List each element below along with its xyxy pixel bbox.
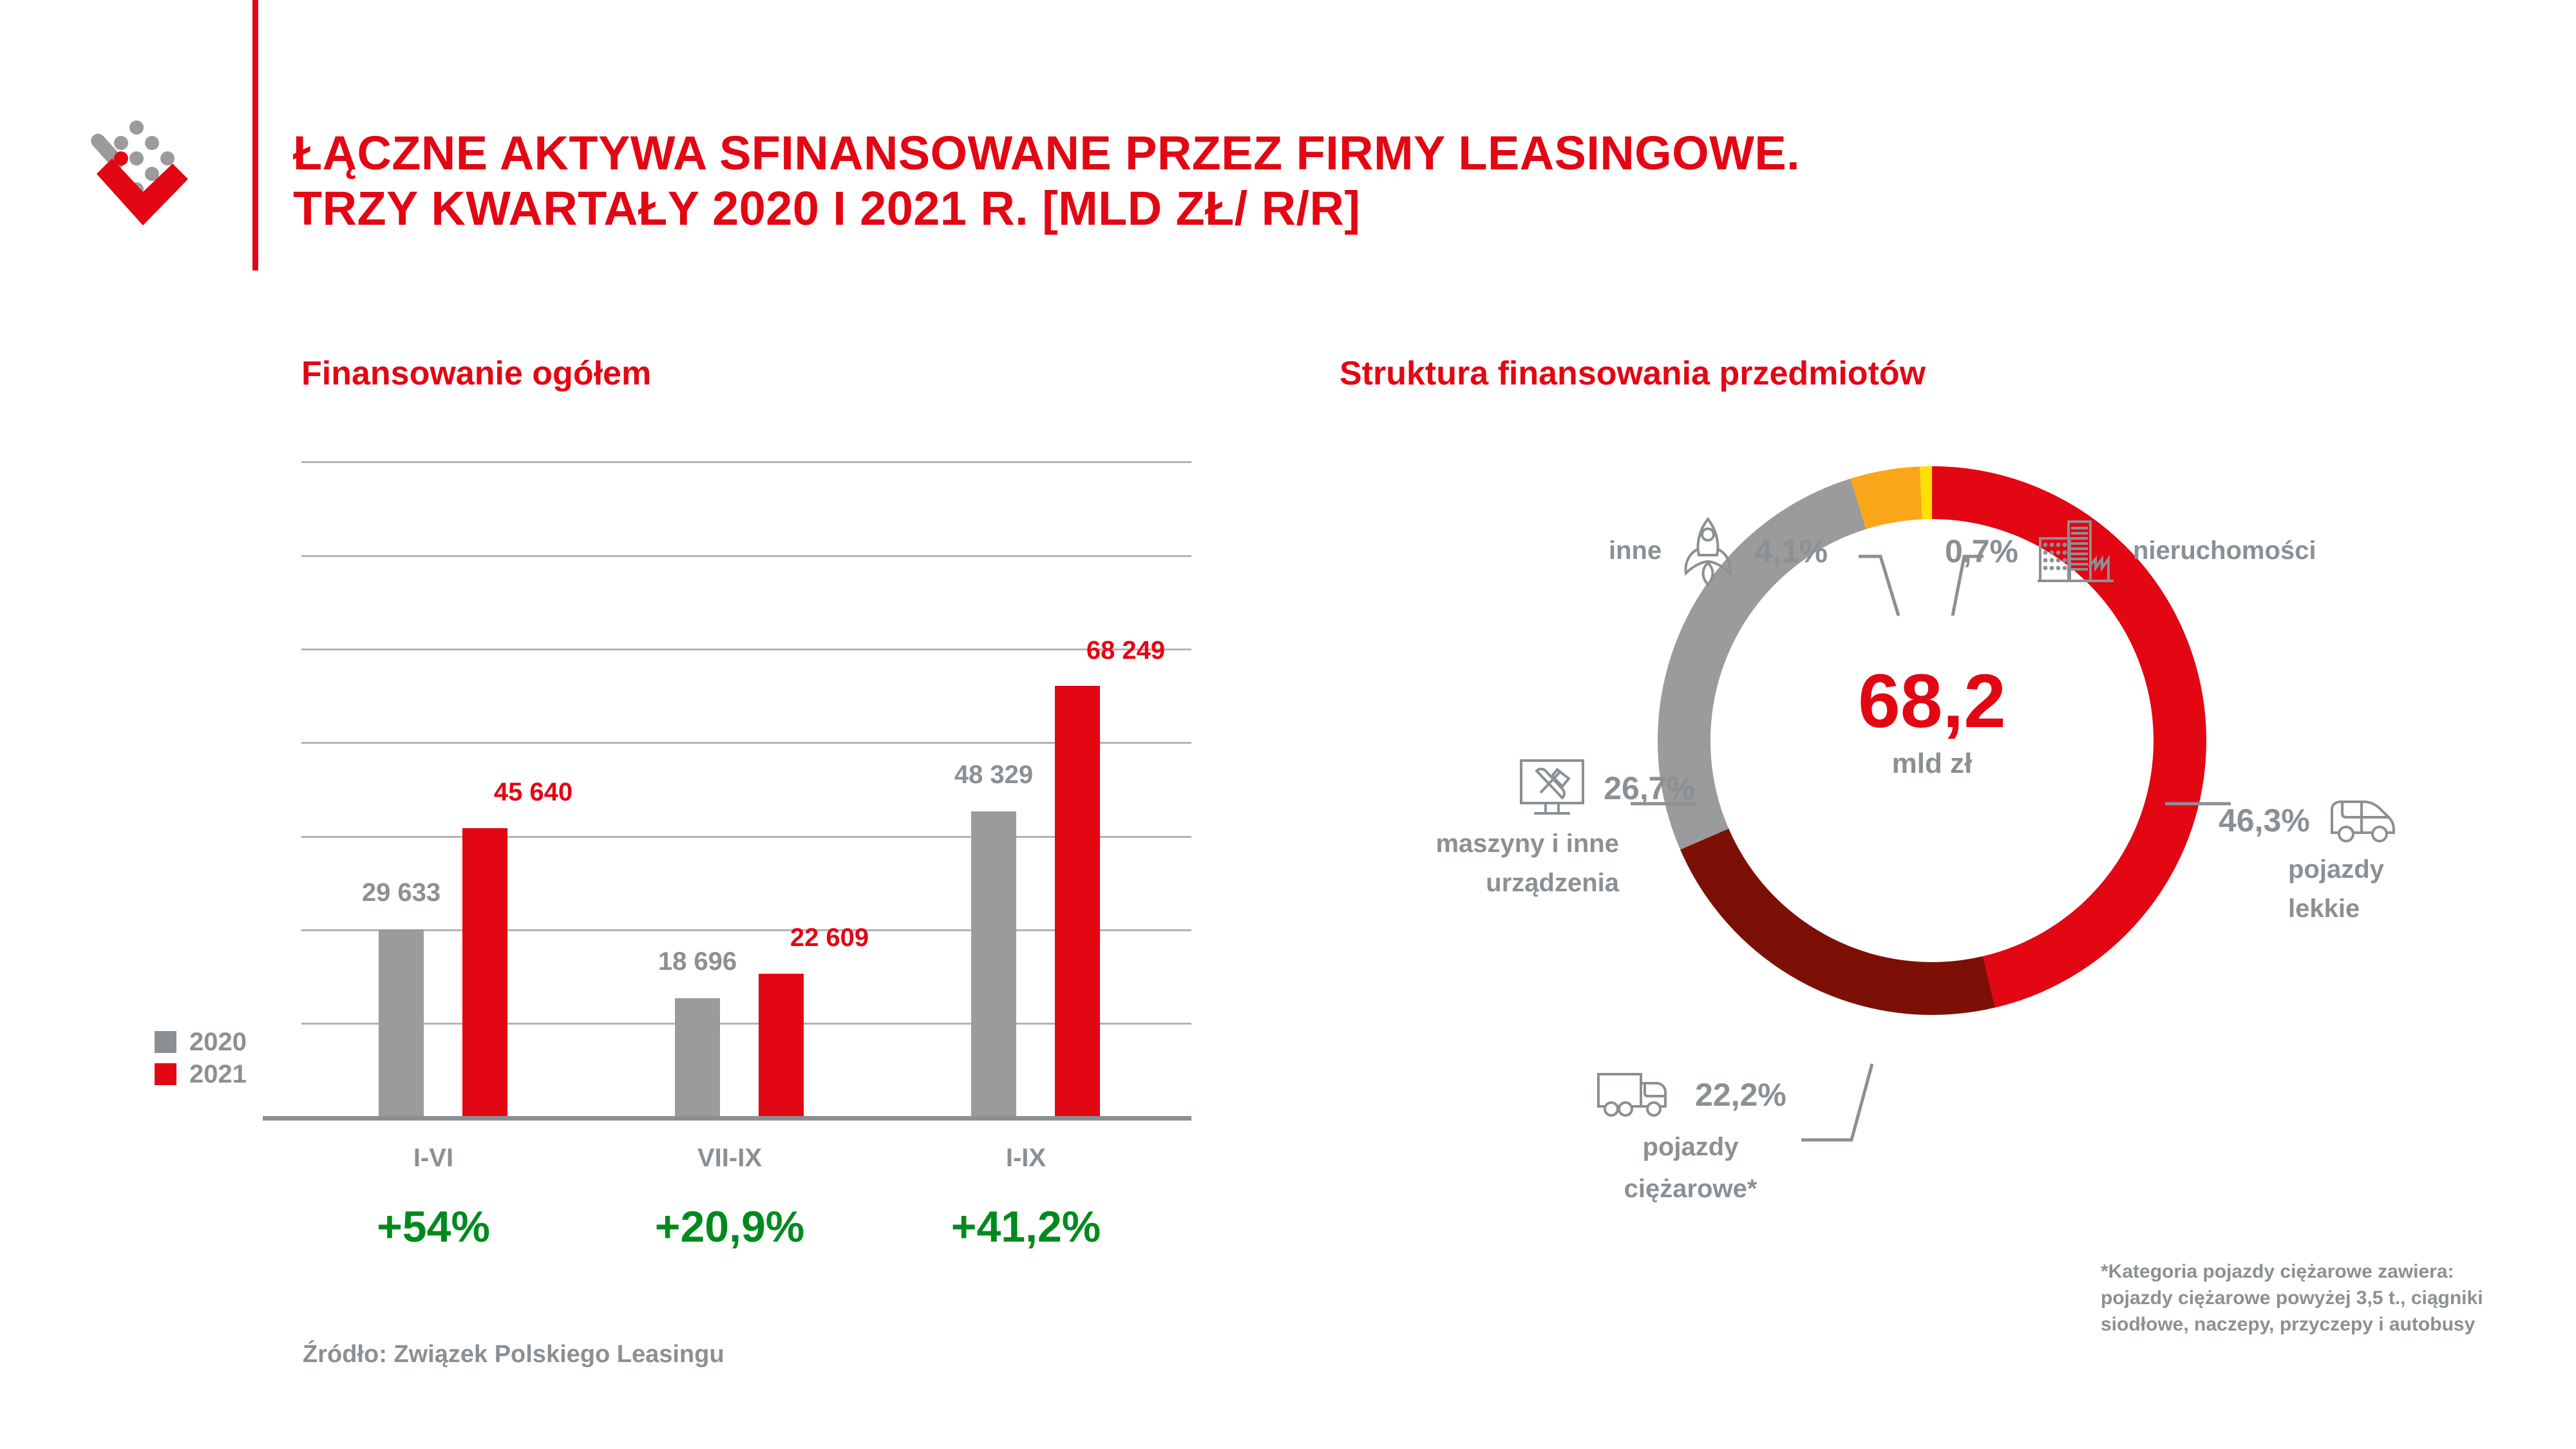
zpl-logo-icon [90, 97, 219, 225]
x-axis-label-i-vi: I-VI [337, 1144, 530, 1173]
donut-callout-pojazdy-ciezarowe: 22,2% pojazdy ciężarowe* [1517, 1069, 1864, 1204]
legend-item-2020[interactable]: 2020 [155, 1029, 296, 1055]
donut-callout-pojazdy-ciezarowe-label-1: pojazdy [1517, 1132, 1864, 1162]
legend-item-2021[interactable]: 2021 [155, 1061, 296, 1087]
bar-chart-title: Finansowanie ogółem [301, 354, 651, 393]
donut-callout-pojazdy-lekkie-label-1: pojazdy [2288, 855, 2398, 885]
legend-swatch-2020 [155, 1031, 176, 1053]
source-note: Źródło: Związek Polskiego Leasingu [303, 1341, 724, 1368]
donut-callout-pojazdy-ciezarowe-pct: 22,2% [1695, 1079, 1786, 1111]
donut-callout-maszyny: 26,7% maszyny i inne urządzenia [1321, 757, 1695, 898]
growth-label-i-ix: +41,2% [916, 1202, 1135, 1252]
bar-value-2021-i-vi: 45 640 [462, 778, 604, 807]
bar-chart-legend: 2020 2021 [155, 1029, 296, 1094]
title-line-1: ŁĄCZNE AKTYWA SFINANSOWANE PRZEZ FIRMY L… [293, 126, 2161, 181]
donut-center-label: 68,2 mld zł [1636, 663, 2228, 778]
bar-2021-vii-ix[interactable] [759, 974, 804, 1116]
x-axis-label-i-ix: I-IX [929, 1144, 1122, 1173]
x-axis-label-vii-ix: VII-IX [633, 1144, 826, 1173]
rocket-icon [1677, 515, 1739, 587]
legend-label-2020: 2020 [189, 1029, 247, 1055]
bar-2021-i-vi[interactable] [462, 828, 507, 1116]
gridline [301, 461, 1191, 463]
donut-callout-maszyny-label-2: urządzenia [1321, 868, 1695, 898]
infographic-page: ŁĄCZNE AKTYWA SFINANSOWANE PRZEZ FIRMY L… [0, 0, 2576, 1449]
bar-value-2020-i-vi: 29 633 [330, 878, 472, 907]
bar-value-2021-vii-ix: 22 609 [759, 923, 900, 952]
donut-callout-inne-label: inne [1609, 536, 1662, 566]
page-title: ŁĄCZNE AKTYWA SFINANSOWANE PRZEZ FIRMY L… [293, 126, 2161, 236]
growth-label-i-vi: +54% [324, 1202, 543, 1252]
bar-value-2021-i-ix: 68 249 [1055, 636, 1197, 665]
gridline [301, 555, 1191, 557]
bar-2020-i-ix[interactable] [971, 811, 1016, 1116]
bar-value-2020-i-ix: 48 329 [923, 761, 1065, 790]
donut-total-value: 68,2 [1636, 663, 2228, 739]
legend-label-2021: 2021 [189, 1061, 247, 1087]
donut-callout-inne: inne 4,1% [1609, 515, 1828, 587]
donut-callout-pojazdy-lekkie-label-2: lekkie [2288, 894, 2398, 924]
legend-swatch-2021 [155, 1063, 176, 1085]
growth-label-vii-ix: +20,9% [620, 1202, 839, 1252]
bar-chart: 29 633 45 640 18 696 22 609 48 329 68 24… [301, 461, 1191, 1118]
van-icon [2327, 795, 2398, 846]
donut-callout-nieruchomosci: 0,7% nieruchomości [1945, 515, 2316, 587]
donut-callout-inne-pct: 4,1% [1754, 535, 1828, 567]
x-axis-line [263, 1116, 1191, 1121]
donut-callout-maszyny-pct: 26,7% [1604, 772, 1695, 804]
donut-total-unit: mld zł [1636, 750, 2228, 778]
bar-value-2020-vii-ix: 18 696 [627, 947, 768, 976]
machine-monitor-icon [1517, 757, 1587, 820]
title-line-2: TRZY KWARTAŁY 2020 I 2021 R. [MLD ZŁ/ R/… [293, 181, 2161, 236]
donut-callout-pojazdy-ciezarowe-label-2: ciężarowe* [1517, 1174, 1864, 1204]
footnote: *Kategoria pojazdy ciężarowe zawiera: po… [2101, 1259, 2513, 1338]
buildings-icon [2034, 515, 2117, 587]
donut-chart-title: Struktura finansowania przedmiotów [1340, 354, 1926, 393]
donut-callout-pojazdy-lekkie-pct: 46,3% [2219, 804, 2310, 837]
bar-2021-i-ix[interactable] [1055, 686, 1100, 1116]
zpl-logo [90, 97, 219, 225]
donut-callout-maszyny-label-1: maszyny i inne [1321, 829, 1695, 859]
truck-icon [1595, 1069, 1678, 1121]
bar-2020-vii-ix[interactable] [675, 998, 720, 1116]
donut-callout-nieruchomosci-pct: 0,7% [1945, 535, 2018, 567]
bar-2020-i-vi[interactable] [379, 929, 424, 1116]
donut-callout-nieruchomosci-label: nieruchomości [2133, 536, 2316, 566]
donut-callout-pojazdy-lekkie: 46,3% pojazdy lekkie [2219, 795, 2398, 924]
header-divider-rule [252, 0, 258, 270]
